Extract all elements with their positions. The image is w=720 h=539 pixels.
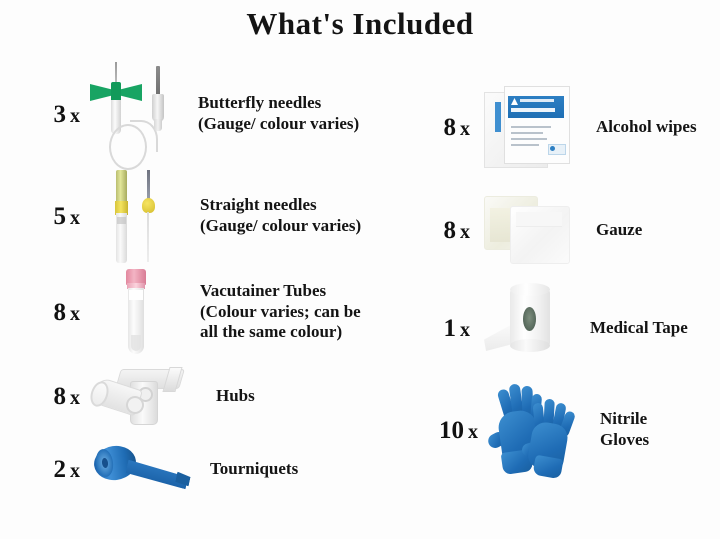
right-column: 8x Alcohol wipes — [400, 72, 715, 482]
gauze-fold-front — [516, 212, 562, 227]
needle-hub-cone — [142, 198, 155, 213]
item-label: Alcohol wipes — [574, 117, 715, 138]
quantity-unit: x — [66, 303, 80, 325]
whats-included-page: What's Included 3x Butterfly needles — [0, 0, 720, 539]
tube-label — [129, 290, 143, 300]
connector-body — [152, 94, 164, 122]
quantity-value: 8 — [54, 383, 67, 410]
list-item: 1x Medical Tape — [400, 278, 715, 378]
nitrile-gloves-icon — [482, 381, 586, 479]
label-line: Nitrile — [600, 409, 715, 430]
tube-fill — [131, 335, 141, 351]
label-line: Butterfly needles — [198, 93, 410, 114]
quantity-unit: x — [456, 221, 470, 243]
quantity-unit: x — [456, 319, 470, 341]
packet-badge-dot — [550, 146, 555, 151]
label-line: all the same colour) — [200, 322, 410, 343]
needle-sheath — [116, 170, 127, 204]
label-line: (Gauge/ colour varies) — [198, 114, 410, 135]
quantity-unit: x — [464, 421, 478, 443]
label-line: Alcohol wipes — [596, 117, 715, 138]
quantity: 8x — [400, 218, 474, 243]
quantity-unit: x — [66, 105, 80, 127]
quantity: 2x — [10, 457, 84, 482]
item-label: Butterfly needles (Gauge/ colour varies) — [176, 93, 410, 134]
label-line: Medical Tape — [590, 318, 715, 339]
tape-roll-top — [510, 283, 550, 296]
quantity: 10x — [400, 418, 482, 443]
brand-text-line — [520, 99, 554, 102]
packet-text-line — [511, 132, 543, 134]
quantity-unit: x — [456, 118, 470, 140]
quantity-unit: x — [66, 387, 80, 409]
packet-text-line — [511, 138, 547, 140]
product-text-line — [511, 108, 555, 112]
quantity-unit: x — [66, 460, 80, 482]
connector-needle — [156, 66, 160, 96]
quantity: 8x — [400, 115, 474, 140]
quantity: 8x — [10, 300, 84, 325]
packet-text-line — [511, 144, 539, 146]
vacutainer-tube-icon — [100, 267, 172, 357]
straight-needle-icon — [98, 168, 174, 264]
list-item: 2x Tourniquets — [10, 434, 410, 504]
item-label: Straight needles (Gauge/ colour varies) — [174, 195, 410, 236]
list-item: 8x Alcohol wipes — [400, 72, 715, 182]
quantity: 3x — [10, 102, 84, 127]
quantity-value: 10 — [439, 417, 464, 444]
label-line: Gauze — [596, 220, 715, 241]
label-line: Gloves — [600, 430, 715, 451]
left-column: 3x Butterfly needles (Gauge/ colour vari… — [10, 62, 410, 504]
needle-tail — [147, 212, 149, 262]
needle-marking — [117, 217, 126, 224]
tourniquet-icon — [90, 442, 194, 496]
alcohol-wipes-icon — [482, 84, 574, 170]
label-line: Vacutainer Tubes — [200, 281, 410, 302]
item-label: Vacutainer Tubes (Colour varies; can be … — [172, 281, 410, 343]
connector-tip — [154, 119, 162, 131]
page-title: What's Included — [0, 6, 720, 42]
quantity-value: 2 — [54, 456, 67, 483]
quantity: 5x — [10, 204, 84, 229]
label-line: Tourniquets — [210, 459, 410, 480]
item-label: Tourniquets — [194, 459, 410, 480]
label-line: Straight needles — [200, 195, 410, 216]
wipe-packet-stripe — [495, 102, 501, 132]
item-label: Nitrile Gloves — [586, 409, 715, 450]
label-line: Hubs — [216, 386, 410, 407]
gauze-icon — [480, 192, 572, 268]
item-label: Hubs — [192, 386, 410, 407]
quantity-value: 3 — [54, 101, 67, 128]
quantity-value: 8 — [444, 217, 457, 244]
quantity-value: 8 — [54, 299, 67, 326]
list-item: 8x Gauze — [400, 182, 715, 278]
item-label: Medical Tape — [570, 318, 715, 339]
list-item: 5x Straight needles (Gauge/ colour varie… — [10, 166, 410, 266]
tape-roll-bottom — [510, 339, 550, 352]
item-label: Gauze — [572, 220, 715, 241]
label-line: (Colour varies; can be — [200, 302, 410, 323]
butterfly-needle-icon — [84, 62, 176, 166]
quantity-unit: x — [66, 207, 80, 229]
quantity-value: 1 — [444, 315, 457, 342]
quantity-value: 5 — [54, 203, 67, 230]
quantity: 1x — [400, 316, 474, 341]
tape-core — [523, 307, 536, 331]
list-item: 10x Nitrile Gloves — [400, 378, 715, 482]
medical-tape-icon — [484, 285, 570, 371]
glove-cuff — [532, 455, 563, 480]
list-item: 8x Hubs — [10, 358, 410, 434]
list-item: 3x Butterfly needles (Gauge/ colour vari… — [10, 62, 410, 166]
quantity: 8x — [10, 384, 84, 409]
hub-icon — [88, 365, 192, 427]
list-item: 8x Vacutainer Tubes (Colour varies; can … — [10, 266, 410, 358]
quantity-value: 8 — [444, 114, 457, 141]
packet-text-line — [511, 126, 551, 128]
label-line: (Gauge/ colour varies) — [200, 216, 410, 237]
